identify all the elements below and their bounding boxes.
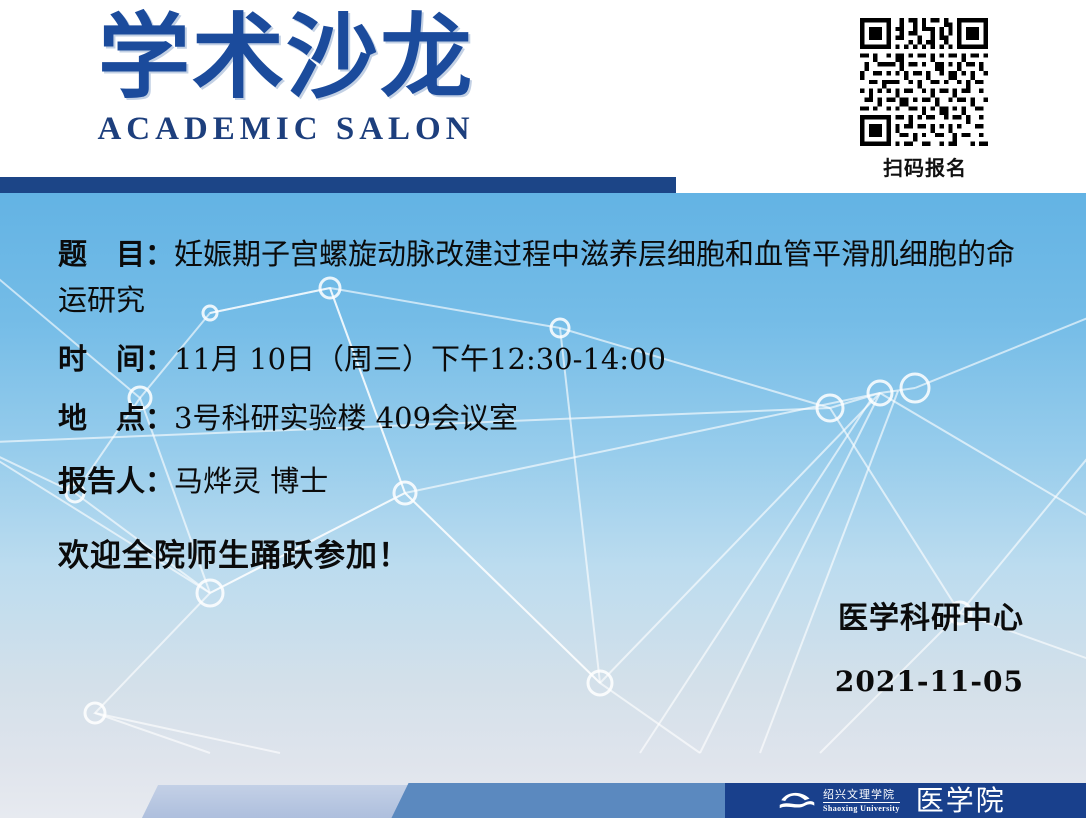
talk-title-row: 题 目：妊娠期子宫螺旋动脉改建过程中滋养层细胞和血管平滑肌细胞的命运研究 (58, 231, 1038, 323)
welcome-message: 欢迎全院师生踊跃参加！ (58, 530, 410, 575)
poster-body-panel: 题 目：妊娠期子宫螺旋动脉改建过程中滋养层细胞和血管平滑肌细胞的命运研究 时 间… (0, 193, 1086, 761)
signature-date: 2021-11-05 (835, 665, 1024, 698)
talk-title-label: 题 目： (58, 237, 174, 271)
poster-header: 学术沙龙 ACADEMIC SALON (0, 0, 1086, 193)
talk-place-row: 地 点：3号科研实验楼 409会议室 (58, 395, 518, 437)
signature-organization: 医学科研中心 (838, 593, 1024, 637)
poster-footer: 绍兴文理学院 Shaoxing University 医学院 (0, 761, 1086, 818)
brand-block: 学术沙龙 ACADEMIC SALON (76, 10, 496, 148)
college-name-label: 医学院 (916, 787, 1006, 815)
talk-speaker-row: 报告人：马烨灵 博士 (58, 458, 328, 500)
university-name-chinese: 绍兴文理学院 (823, 789, 900, 800)
brand-title-chinese: 学术沙龙 (76, 10, 496, 107)
academic-salon-poster: 学术沙龙 ACADEMIC SALON (0, 0, 1086, 818)
talk-place-label: 地 点： (58, 401, 174, 435)
talk-time-row: 时 间：11月 10日（周三）下午12:30-14:00 (58, 336, 666, 378)
talk-place-value: 3号科研实验楼 409会议室 (174, 401, 518, 435)
university-name-english: Shaoxing University (823, 805, 900, 813)
qr-caption-label: 扫码报名 (860, 152, 990, 181)
university-name-divider (823, 802, 900, 803)
talk-title-value: 妊娠期子宫螺旋动脉改建过程中滋养层细胞和血管平滑肌细胞的命运研究 (58, 237, 1015, 317)
university-logo-row: 绍兴文理学院 Shaoxing University 医学院 (778, 787, 1006, 815)
qr-code-icon[interactable] (860, 18, 988, 146)
qr-registration-block[interactable]: 扫码报名 (860, 18, 990, 181)
header-navy-rule (0, 177, 676, 194)
poster-content: 题 目：妊娠期子宫螺旋动脉改建过程中滋养层细胞和血管平滑肌细胞的命运研究 时 间… (0, 193, 1086, 761)
talk-speaker-value: 马烨灵 博士 (174, 464, 328, 498)
talk-time-value: 11月 10日（周三）下午12:30-14:00 (174, 342, 666, 376)
bridge-wave-logo-icon (778, 790, 816, 812)
university-name-block: 绍兴文理学院 Shaoxing University (823, 789, 900, 813)
brand-title-english: ACADEMIC SALON (76, 111, 496, 148)
talk-speaker-label: 报告人： (58, 464, 174, 498)
talk-time-label: 时 间： (58, 342, 174, 376)
